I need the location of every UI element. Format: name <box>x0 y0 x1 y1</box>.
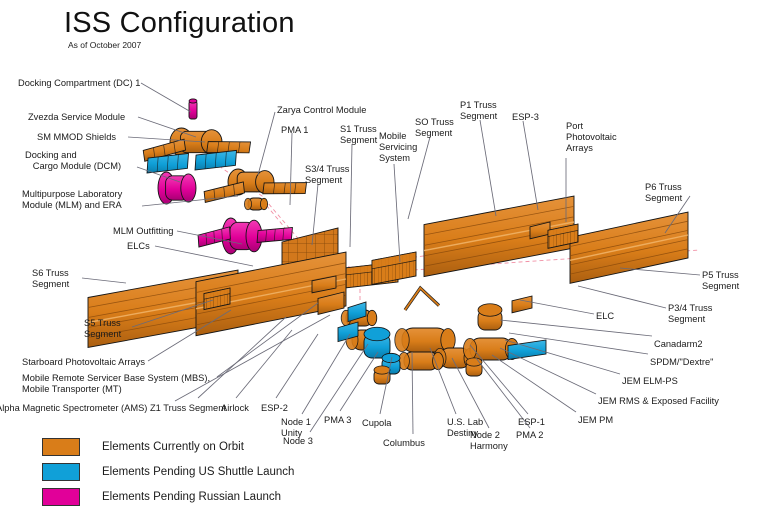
legend-swatch-pending-russian <box>42 488 80 506</box>
leader-line-dc1 <box>141 83 191 112</box>
leader-line-node1 <box>302 334 350 414</box>
callout-label-zarya: Zarya Control Module <box>277 105 366 116</box>
callout-label-airlock: Airlock <box>221 403 249 414</box>
leader-line-jemrms <box>500 348 596 394</box>
legend: Elements Currently on Orbit Elements Pen… <box>42 437 294 512</box>
legend-label: Elements Currently on Orbit <box>102 441 244 453</box>
callout-label-s5: S5 Truss Segment <box>84 318 121 340</box>
legend-item: Elements Currently on Orbit <box>42 437 294 457</box>
leader-line-pma3 <box>340 352 378 411</box>
leader-line-mss <box>394 164 400 262</box>
leader-line-pma1 <box>290 133 292 205</box>
callout-label-esp2: ESP-2 <box>261 403 288 414</box>
callout-label-p6: P6 Truss Segment <box>645 182 682 204</box>
elc-port <box>512 296 532 313</box>
callout-label-s1: S1 Truss Segment <box>340 124 377 146</box>
leader-line-p1 <box>480 120 496 216</box>
zarya-panel-left <box>204 182 246 203</box>
pma2 <box>466 358 482 376</box>
so-truss-segment <box>372 252 416 284</box>
callout-label-mlm: Multipurpose Laboratory Module (MLM) and… <box>22 189 122 211</box>
callout-label-z1: Z1 Truss Segment <box>150 403 226 414</box>
leader-line-p5 <box>620 268 700 275</box>
callout-label-columbus: Columbus <box>383 438 425 449</box>
leader-line-s1 <box>350 144 352 247</box>
callout-label-jemrms: JEM RMS & Exposed Facility <box>598 396 719 407</box>
leader-line-zvezda <box>138 117 196 137</box>
callout-label-smmmod: SM MMOD Shields <box>37 132 116 143</box>
callout-label-p34: P3/4 Truss Segment <box>668 303 712 325</box>
pma3 <box>374 366 390 384</box>
callout-label-p5: P5 Truss Segment <box>702 270 739 292</box>
callout-label-mlmout: MLM Outfitting <box>113 226 173 237</box>
callout-label-jemelm: JEM ELM-PS <box>622 376 678 387</box>
leader-line-esp3 <box>523 121 538 210</box>
callout-label-elcs: ELCs <box>127 241 150 252</box>
legend-label: Elements Pending US Shuttle Launch <box>102 466 294 478</box>
pma1 <box>244 198 267 210</box>
columbus <box>399 352 444 370</box>
docking-compartment-dc1 <box>189 99 197 119</box>
leader-line-airlock <box>236 330 292 398</box>
leader-line-jempm <box>492 355 576 412</box>
callout-label-s34: S3/4 Truss Segment <box>305 164 349 186</box>
callout-label-node2: Node 2 Harmony <box>470 430 508 452</box>
legend-swatch-pending-us <box>42 463 80 481</box>
leader-line-canadarm <box>500 320 652 336</box>
iss-configuration-diagram: ISS Configuration As of October 2007 <box>0 0 757 512</box>
legend-swatch-on-orbit <box>42 438 80 456</box>
callout-label-s6: S6 Truss Segment <box>32 268 69 290</box>
callout-label-jempm: JEM PM <box>578 415 613 426</box>
callout-label-canadarm: Canadarm2 <box>654 339 703 350</box>
callout-label-zvezda: Zvezda Service Module <box>28 112 125 123</box>
leader-line-esp2 <box>276 334 318 398</box>
callout-label-cupola: Cupola <box>362 418 391 429</box>
callout-label-so: SO Truss Segment <box>415 117 454 139</box>
callout-label-pma1: PMA 1 <box>281 125 308 136</box>
callout-label-mss: Mobile Servicing System <box>379 131 417 164</box>
callout-label-spdm: SPDM/"Dextre" <box>650 357 713 368</box>
leader-line-zarya <box>258 112 275 175</box>
callout-label-starboard: Starboard Photovoltaic Arrays <box>22 357 145 368</box>
jem-elm-ps <box>478 304 502 330</box>
callout-label-portpv: Port Photovoltaic Arrays <box>566 121 617 154</box>
callout-label-esp1: ESP-1 <box>518 417 545 428</box>
callout-label-dcm: Docking and Cargo Module (DCM) <box>25 150 121 172</box>
leader-line-p34 <box>578 286 666 308</box>
legend-item: Elements Pending Russian Launch <box>42 487 294 507</box>
callout-label-esp3: ESP-3 <box>512 112 539 123</box>
callout-label-pma3: PMA 3 <box>324 415 351 426</box>
callout-label-mbs: Mobile Remote Servicer Base System (MBS)… <box>22 373 210 395</box>
legend-label: Elements Pending Russian Launch <box>102 491 281 503</box>
legend-item: Elements Pending US Shuttle Launch <box>42 462 294 482</box>
canadarm2 <box>405 288 439 310</box>
leader-line-s6 <box>82 278 126 283</box>
callout-label-elc: ELC <box>596 311 614 322</box>
callout-label-ams: Alpha Magnetic Spectrometer (AMS) <box>0 403 147 414</box>
callout-label-p1: P1 Truss Segment <box>460 100 497 122</box>
callout-label-pma2: PMA 2 <box>516 430 543 441</box>
station-artwork <box>0 0 757 512</box>
docking-cargo-module <box>158 172 196 204</box>
callout-label-dc1: Docking Compartment (DC) 1 <box>18 78 140 89</box>
